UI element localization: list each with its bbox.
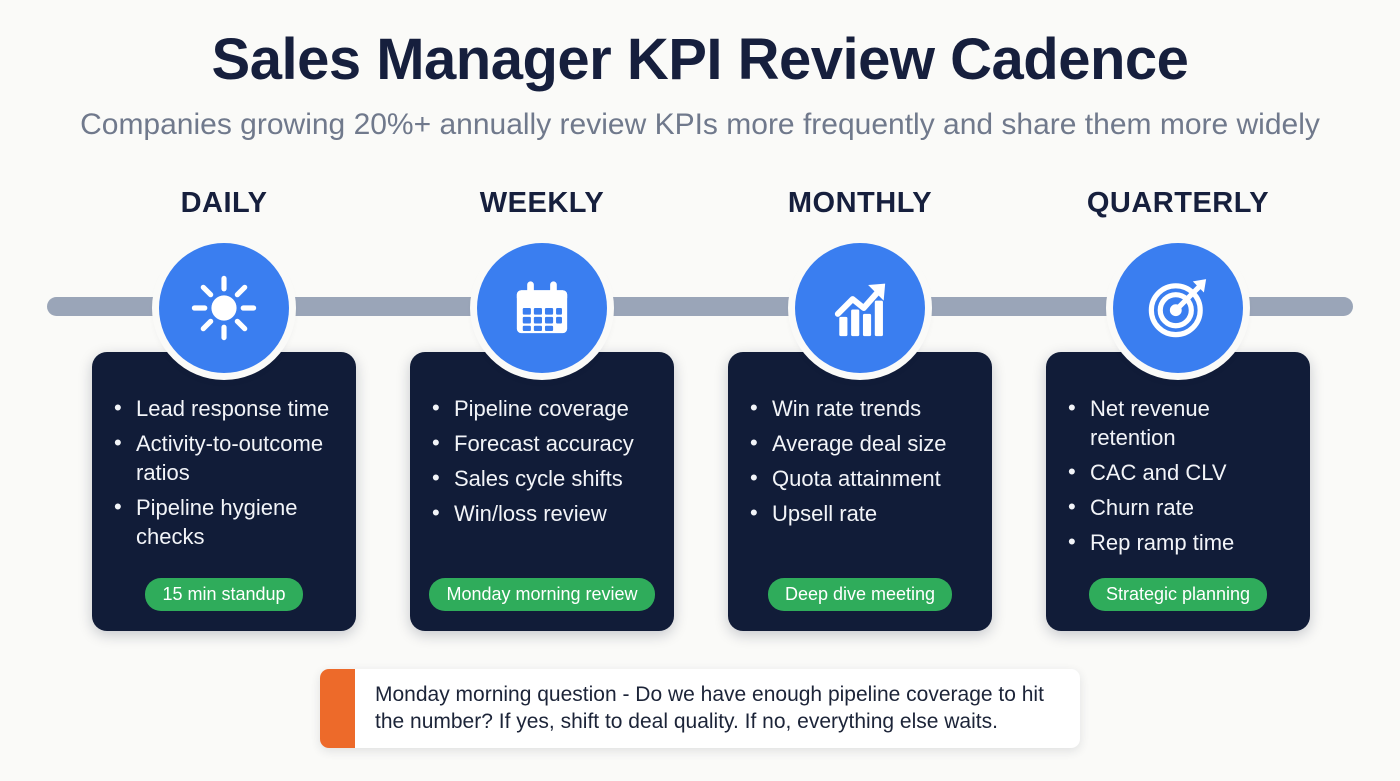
cadence-column-monthly[interactable]: MONTHLY Win rate trends Average de <box>701 185 1019 221</box>
badge-row-quarterly: Strategic planning <box>1046 578 1310 611</box>
column-label-daily: DAILY <box>65 185 383 221</box>
list-item: Quota attainment <box>772 464 974 493</box>
icon-wrap-monthly <box>795 243 925 373</box>
icon-wrap-quarterly <box>1113 243 1243 373</box>
list-item: Forecast accuracy <box>454 429 656 458</box>
card-daily: Lead response time Activity-to-outcome r… <box>92 352 356 631</box>
kpi-list-quarterly: Net revenue retention CAC and CLV Churn … <box>1046 394 1310 557</box>
status-badge-weekly: Monday morning review <box>429 578 654 611</box>
badge-row-daily: 15 min standup <box>92 578 356 611</box>
icon-wrap-weekly <box>477 243 607 373</box>
icon-wrap-daily <box>159 243 289 373</box>
card-quarterly: Net revenue retention CAC and CLV Churn … <box>1046 352 1310 631</box>
list-item: Net revenue retention <box>1090 394 1292 452</box>
column-label-monthly: MONTHLY <box>701 185 1019 221</box>
kpi-list-weekly: Pipeline coverage Forecast accuracy Sale… <box>410 394 674 528</box>
badge-row-weekly: Monday morning review <box>410 578 674 611</box>
column-label-weekly: WEEKLY <box>383 185 701 221</box>
list-item: CAC and CLV <box>1090 458 1292 487</box>
sun-icon <box>159 243 289 373</box>
cadence-column-weekly[interactable]: WEEKLY <box>383 185 701 221</box>
list-item: Lead response time <box>136 394 338 423</box>
callout-accent-bar <box>320 669 355 748</box>
cadence-timeline: DAILY <box>0 185 1400 645</box>
calendar-icon <box>477 243 607 373</box>
list-item: Win rate trends <box>772 394 974 423</box>
list-item: Upsell rate <box>772 499 974 528</box>
header: Sales Manager KPI Review Cadence Compani… <box>0 0 1400 141</box>
status-badge-daily: 15 min standup <box>145 578 302 611</box>
callout-box: Monday morning question - Do we have eno… <box>320 669 1080 748</box>
list-item: Pipeline coverage <box>454 394 656 423</box>
kpi-list-monthly: Win rate trends Average deal size Quota … <box>728 394 992 528</box>
badge-row-monthly: Deep dive meeting <box>728 578 992 611</box>
list-item: Average deal size <box>772 429 974 458</box>
target-icon <box>1113 243 1243 373</box>
page-subtitle: Companies growing 20%+ annually review K… <box>0 108 1400 141</box>
kpi-list-daily: Lead response time Activity-to-outcome r… <box>92 394 356 551</box>
callout-text: Monday morning question - Do we have eno… <box>355 669 1080 748</box>
list-item: Rep ramp time <box>1090 528 1292 557</box>
list-item: Pipeline hygiene checks <box>136 493 338 551</box>
cadence-column-daily[interactable]: DAILY <box>65 185 383 221</box>
column-label-quarterly: QUARTERLY <box>1019 185 1337 221</box>
list-item: Sales cycle shifts <box>454 464 656 493</box>
card-weekly: Pipeline coverage Forecast accuracy Sale… <box>410 352 674 631</box>
cadence-column-quarterly[interactable]: QUARTERLY Net revenue retention CAC and … <box>1019 185 1337 221</box>
card-monthly: Win rate trends Average deal size Quota … <box>728 352 992 631</box>
list-item: Activity-to-outcome ratios <box>136 429 338 487</box>
page-title: Sales Manager KPI Review Cadence <box>0 30 1400 91</box>
status-badge-quarterly: Strategic planning <box>1089 578 1267 611</box>
growth-chart-icon <box>795 243 925 373</box>
status-badge-monthly: Deep dive meeting <box>768 578 952 611</box>
list-item: Win/loss review <box>454 499 656 528</box>
list-item: Churn rate <box>1090 493 1292 522</box>
